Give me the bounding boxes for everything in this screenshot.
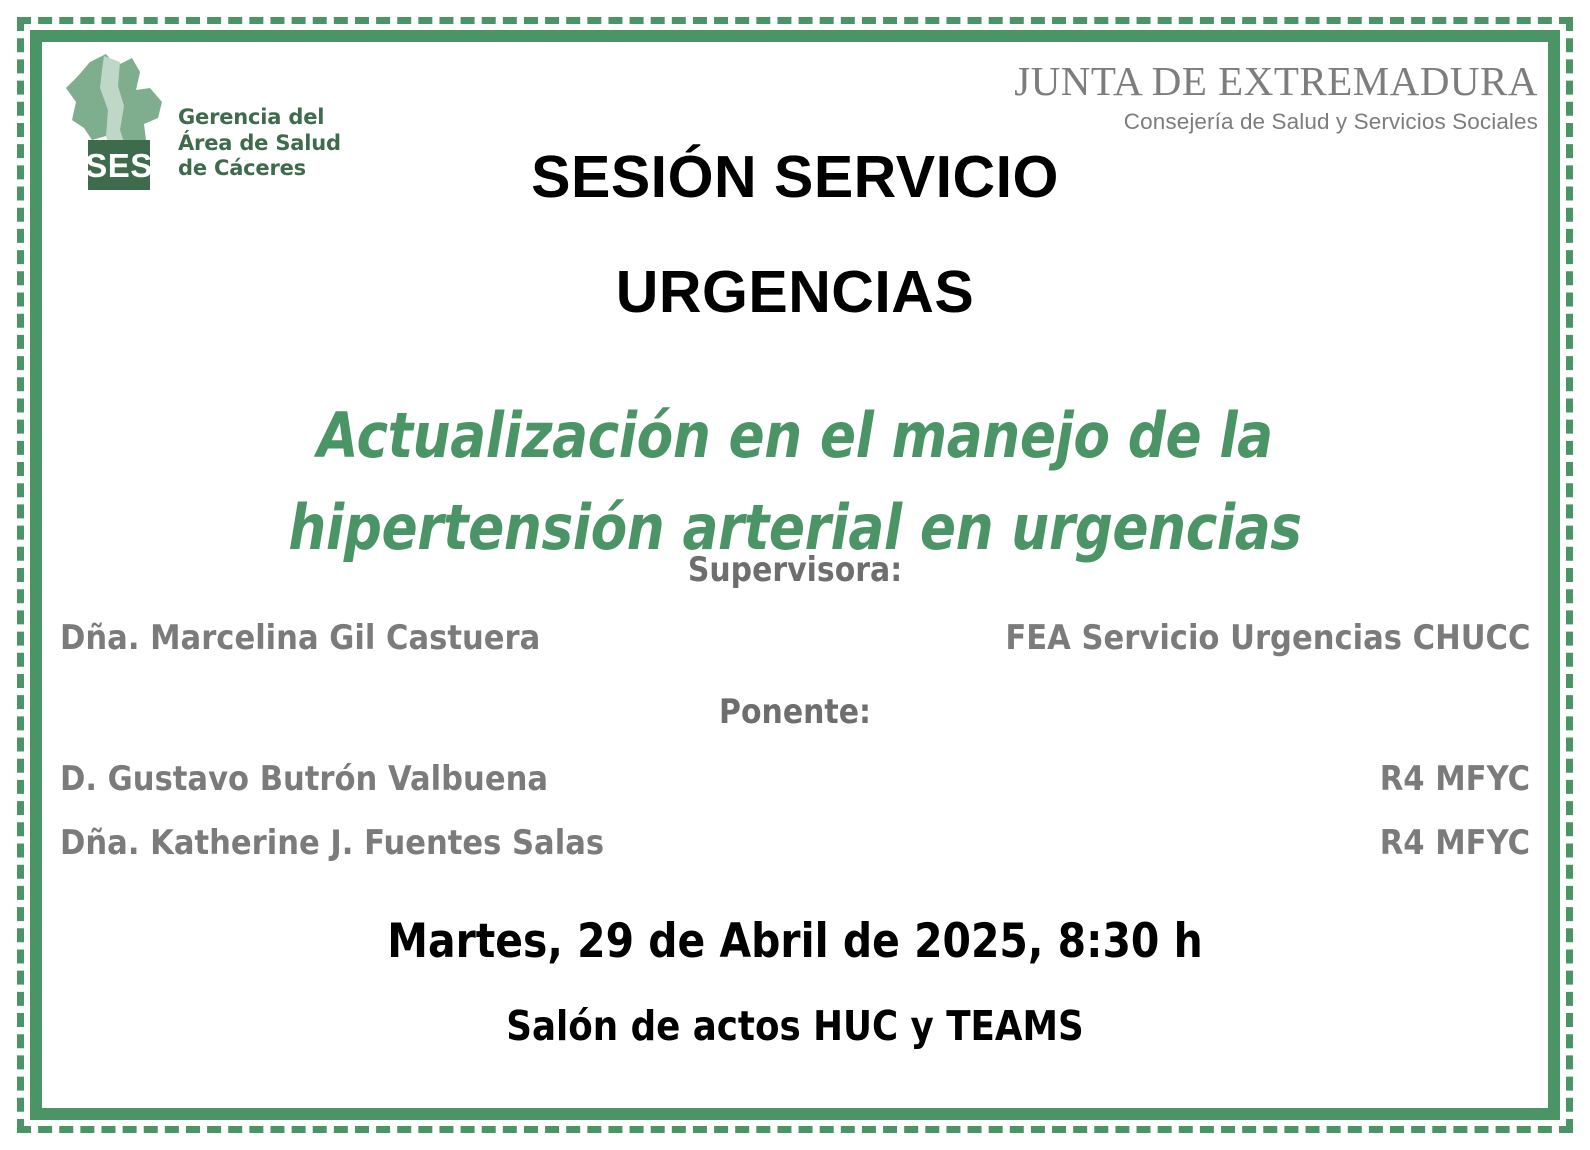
session-subject: Actualización en el manejo de la hiperte… bbox=[147, 390, 1442, 574]
supervisora-role: FEA Servicio Urgencias CHUCC bbox=[1005, 618, 1530, 658]
ponente-name-2: Dña. Katherine J. Fuentes Salas bbox=[60, 823, 604, 863]
supervisora-name: Dña. Marcelina Gil Castuera bbox=[60, 618, 540, 658]
supervisora-heading: Supervisora: bbox=[132, 550, 1457, 590]
page-title-line-1: SESIÓN SERVICIO bbox=[42, 120, 1548, 235]
poster-content: SES Gerencia del Área de Salud de Cácere… bbox=[42, 42, 1548, 1108]
ponente-name-1: D. Gustavo Butrón Valbuena bbox=[60, 759, 548, 799]
session-subject-line-1: Actualización en el manejo de la bbox=[147, 390, 1442, 482]
ponente-role-2: R4 MFYC bbox=[1380, 823, 1530, 863]
poster: SES Gerencia del Área de Salud de Cácere… bbox=[0, 0, 1590, 1150]
page-title-line-2: URGENCIAS bbox=[42, 235, 1548, 350]
ponente-heading: Ponente: bbox=[132, 692, 1457, 732]
supervisora-row: Dña. Marcelina Gil Castuera FEA Servicio… bbox=[60, 618, 1530, 658]
session-venue: Salón de actos HUC y TEAMS bbox=[140, 1002, 1450, 1050]
session-date: Martes, 29 de Abril de 2025, 8:30 h bbox=[140, 914, 1450, 969]
ponente-row: Dña. Katherine J. Fuentes Salas R4 MFYC bbox=[60, 823, 1530, 863]
ponente-role-1: R4 MFYC bbox=[1380, 759, 1530, 799]
junta-title: JUNTA DE EXTREMADURA bbox=[1014, 60, 1538, 103]
page-title: SESIÓN SERVICIO URGENCIAS bbox=[42, 120, 1548, 350]
ponente-row: D. Gustavo Butrón Valbuena R4 MFYC bbox=[60, 759, 1530, 799]
